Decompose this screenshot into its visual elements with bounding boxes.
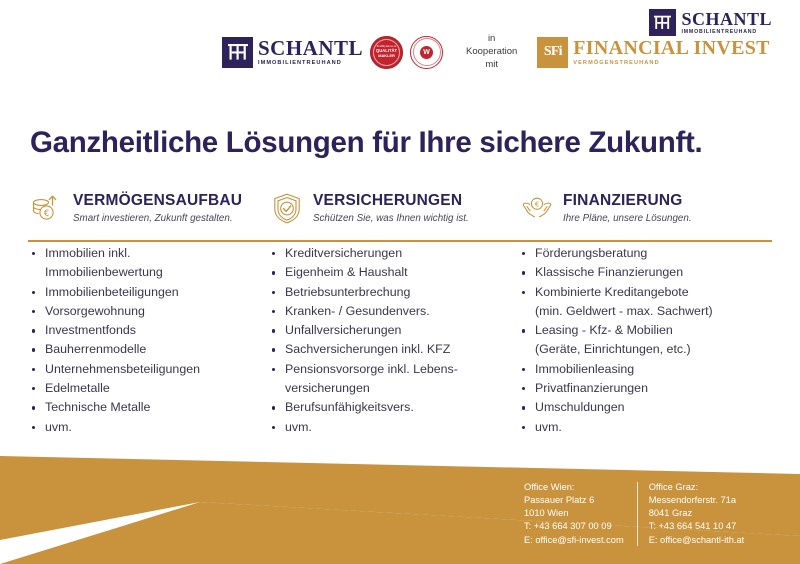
list-item: Immobilienbeteiligungen <box>30 283 255 302</box>
list-item: (min. Geldwert - max. Sachwert) <box>520 302 790 321</box>
corner-schantl-logo: SCHANTL IMMOBILIENTREUHAND <box>649 9 772 36</box>
office-city: 1010 Wien <box>524 507 624 520</box>
list-item: Umschuldungen <box>520 398 790 417</box>
list-item: uvm. <box>270 418 500 437</box>
office-graz-block: Office Graz: Messendorferstr. 71a 8041 G… <box>649 481 745 547</box>
list-item: Sachversicherungen inkl. KFZ <box>270 340 500 359</box>
seal-line-3: MAKLER <box>378 54 395 58</box>
service-list-vermoegensaufbau: Immobilien inkl. Immobilienbewertung Imm… <box>30 244 255 437</box>
services-columns: € VERMÖGENSAUFBAU Smart investieren, Zuk… <box>0 186 800 437</box>
list-item: Bauherrenmodelle <box>30 340 255 359</box>
list-item: Kombinierte Kreditangebote <box>520 283 790 302</box>
footer-contacts: Office Wien: Passauer Platz 6 1010 Wien … <box>524 481 744 547</box>
office-city: 8041 Graz <box>649 507 745 520</box>
svg-text:€: € <box>535 201 539 209</box>
column-title: VERSICHERUNGEN <box>313 192 469 210</box>
cooperation-line-1: in <box>488 33 495 44</box>
list-item: Technische Metalle <box>30 398 255 417</box>
list-item: Leasing - Kfz- & Mobilien <box>520 321 790 340</box>
qualitaetsmakler-seal-icon: FindMyHome.at QUALITÄT MAKLER <box>370 36 403 69</box>
page-headline: Ganzheitliche Lösungen für Ihre sichere … <box>30 126 702 160</box>
list-item: uvm. <box>30 418 255 437</box>
column-finanzierung: € FINANZIERUNG Ihre Pläne, unsere Lösung… <box>510 186 800 437</box>
list-item: Edelmetalle <box>30 379 255 398</box>
footer-ribbon: Office Wien: Passauer Platz 6 1010 Wien … <box>0 440 800 564</box>
list-item: Kranken- / Gesundenvers. <box>270 302 500 321</box>
list-item: Immobilienbewertung <box>30 263 255 282</box>
office-title: Office Wien: <box>524 481 624 494</box>
sfi-monogram-icon: SFi <box>537 37 568 68</box>
hands-holding-coin-icon: € <box>520 191 554 225</box>
column-title: VERMÖGENSAUFBAU <box>73 192 242 210</box>
column-header: VERSICHERUNGEN Schützen Sie, was Ihnen w… <box>270 186 500 230</box>
header-logo-bar: SCHANTL IMMOBILIENTREUHAND FindMyHome.at… <box>0 0 800 108</box>
cooperation-line-3: mit <box>485 59 498 70</box>
sfi-financial-invest-logo: SFi FINANCIAL INVEST VERMÖGENSTREUHAND <box>537 37 770 68</box>
seal-ring <box>413 38 441 66</box>
list-item: Betriebsunterbrechung <box>270 283 500 302</box>
list-item: Klassische Finanzierungen <box>520 263 790 282</box>
column-title: FINANZIERUNG <box>563 192 692 210</box>
list-item: Investmentfonds <box>30 321 255 340</box>
list-item: versicherungen <box>270 379 500 398</box>
column-subtitle: Schützen Sie, was Ihnen wichtig ist. <box>313 213 469 225</box>
office-street: Messendorferstr. 71a <box>649 494 745 507</box>
list-item: Berufsunfähigkeitsvers. <box>270 398 500 417</box>
list-item: Förderungsberatung <box>520 244 790 263</box>
list-item: Unfallversicherungen <box>270 321 500 340</box>
financial-invest-wordmark: FINANCIAL INVEST <box>573 38 770 58</box>
cooperation-note: in Kooperation mit <box>466 33 517 71</box>
list-item: uvm. <box>520 418 790 437</box>
sfi-glyph: SFi <box>544 45 562 59</box>
service-list-finanzierung: Förderungsberatung Klassische Finanzieru… <box>520 244 790 437</box>
office-email[interactable]: E: office@sfi-invest.com <box>524 534 624 547</box>
service-list-versicherungen: Kreditversicherungen Eigenheim & Haushal… <box>270 244 500 437</box>
office-title: Office Graz: <box>649 481 745 494</box>
list-item: Privatfinanzierungen <box>520 379 790 398</box>
column-versicherungen: VERSICHERUNGEN Schützen Sie, was Ihnen w… <box>265 186 510 437</box>
list-item: Immobilien inkl. <box>30 244 255 263</box>
list-item: (Geräte, Einrichtungen, etc.) <box>520 340 790 359</box>
ith-monogram-corner-icon <box>649 9 676 36</box>
partner-logo-row: SCHANTL IMMOBILIENTREUHAND FindMyHome.at… <box>222 33 770 71</box>
shield-check-icon <box>270 191 304 225</box>
schantl-ith-logo: SCHANTL IMMOBILIENTREUHAND <box>222 37 363 68</box>
financial-invest-tagline: VERMÖGENSTREUHAND <box>573 61 770 67</box>
corner-schantl-tagline: IMMOBILIENTREUHAND <box>681 30 772 35</box>
column-header: € FINANZIERUNG Ihre Pläne, unsere Lösung… <box>520 186 790 230</box>
office-wien-block: Office Wien: Passauer Platz 6 1010 Wien … <box>524 481 624 547</box>
list-item: Vorsorgewohnung <box>30 302 255 321</box>
svg-text:€: € <box>44 208 49 218</box>
ith-monogram-icon <box>222 37 253 68</box>
office-phone[interactable]: T: +43 664 307 00 09 <box>524 520 624 533</box>
list-item: Eigenheim & Haushalt <box>270 263 500 282</box>
column-vermoegensaufbau: € VERMÖGENSAUFBAU Smart investieren, Zuk… <box>0 186 265 437</box>
column-subtitle: Ihre Pläne, unsere Lösungen. <box>563 213 692 225</box>
certification-seal-icon: W <box>410 36 443 69</box>
schantl-tagline: IMMOBILIENTREUHAND <box>258 61 363 67</box>
list-item: Kreditversicherungen <box>270 244 500 263</box>
office-street: Passauer Platz 6 <box>524 494 624 507</box>
schantl-wordmark: SCHANTL <box>258 38 363 59</box>
cooperation-line-2: Kooperation <box>466 46 517 57</box>
corner-schantl-wordmark: SCHANTL <box>681 10 772 28</box>
contact-divider <box>637 482 638 546</box>
coins-euro-growth-icon: € <box>30 191 64 225</box>
column-subtitle: Smart investieren, Zukunft gestalten. <box>73 213 242 225</box>
office-email[interactable]: E: office@schantl-ith.at <box>649 534 745 547</box>
column-header: € VERMÖGENSAUFBAU Smart investieren, Zuk… <box>30 186 255 230</box>
list-item: Unternehmensbeteiligungen <box>30 360 255 379</box>
list-item: Pensionsvorsorge inkl. Lebens- <box>270 360 500 379</box>
list-item: Immobilienleasing <box>520 360 790 379</box>
office-phone[interactable]: T: +43 664 541 10 47 <box>649 520 745 533</box>
